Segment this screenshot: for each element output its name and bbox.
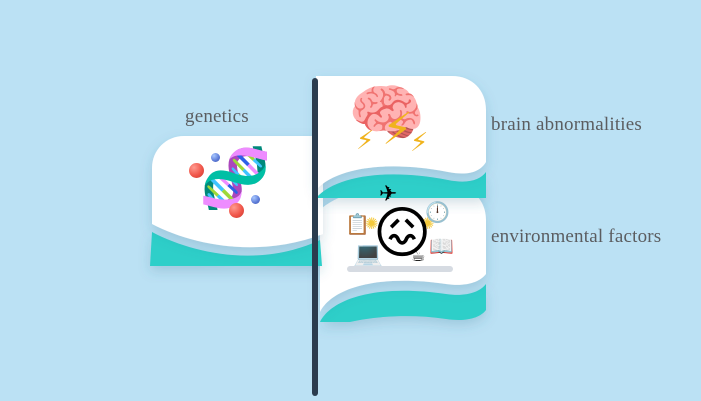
diagram-canvas: 🧬 genetics 🧠 ⚡ ⚡ ⚡ brain abnormalities (0, 0, 701, 401)
leaf-card-genetics[interactable] (148, 136, 323, 266)
leaf-card-environmental-factors[interactable] (316, 186, 488, 322)
node-label-environmental-factors: environmental factors (491, 226, 661, 248)
leaf-card-brain-abnormalities[interactable] (316, 76, 488, 198)
leaf-body-brain (316, 76, 486, 190)
node-label-genetics: genetics (185, 106, 249, 128)
leaf-body-genetics (152, 136, 323, 247)
central-stem (312, 78, 318, 396)
leaf-accent-curve-brain (316, 172, 486, 198)
node-label-brain-abnormalities: brain abnormalities (491, 114, 642, 136)
